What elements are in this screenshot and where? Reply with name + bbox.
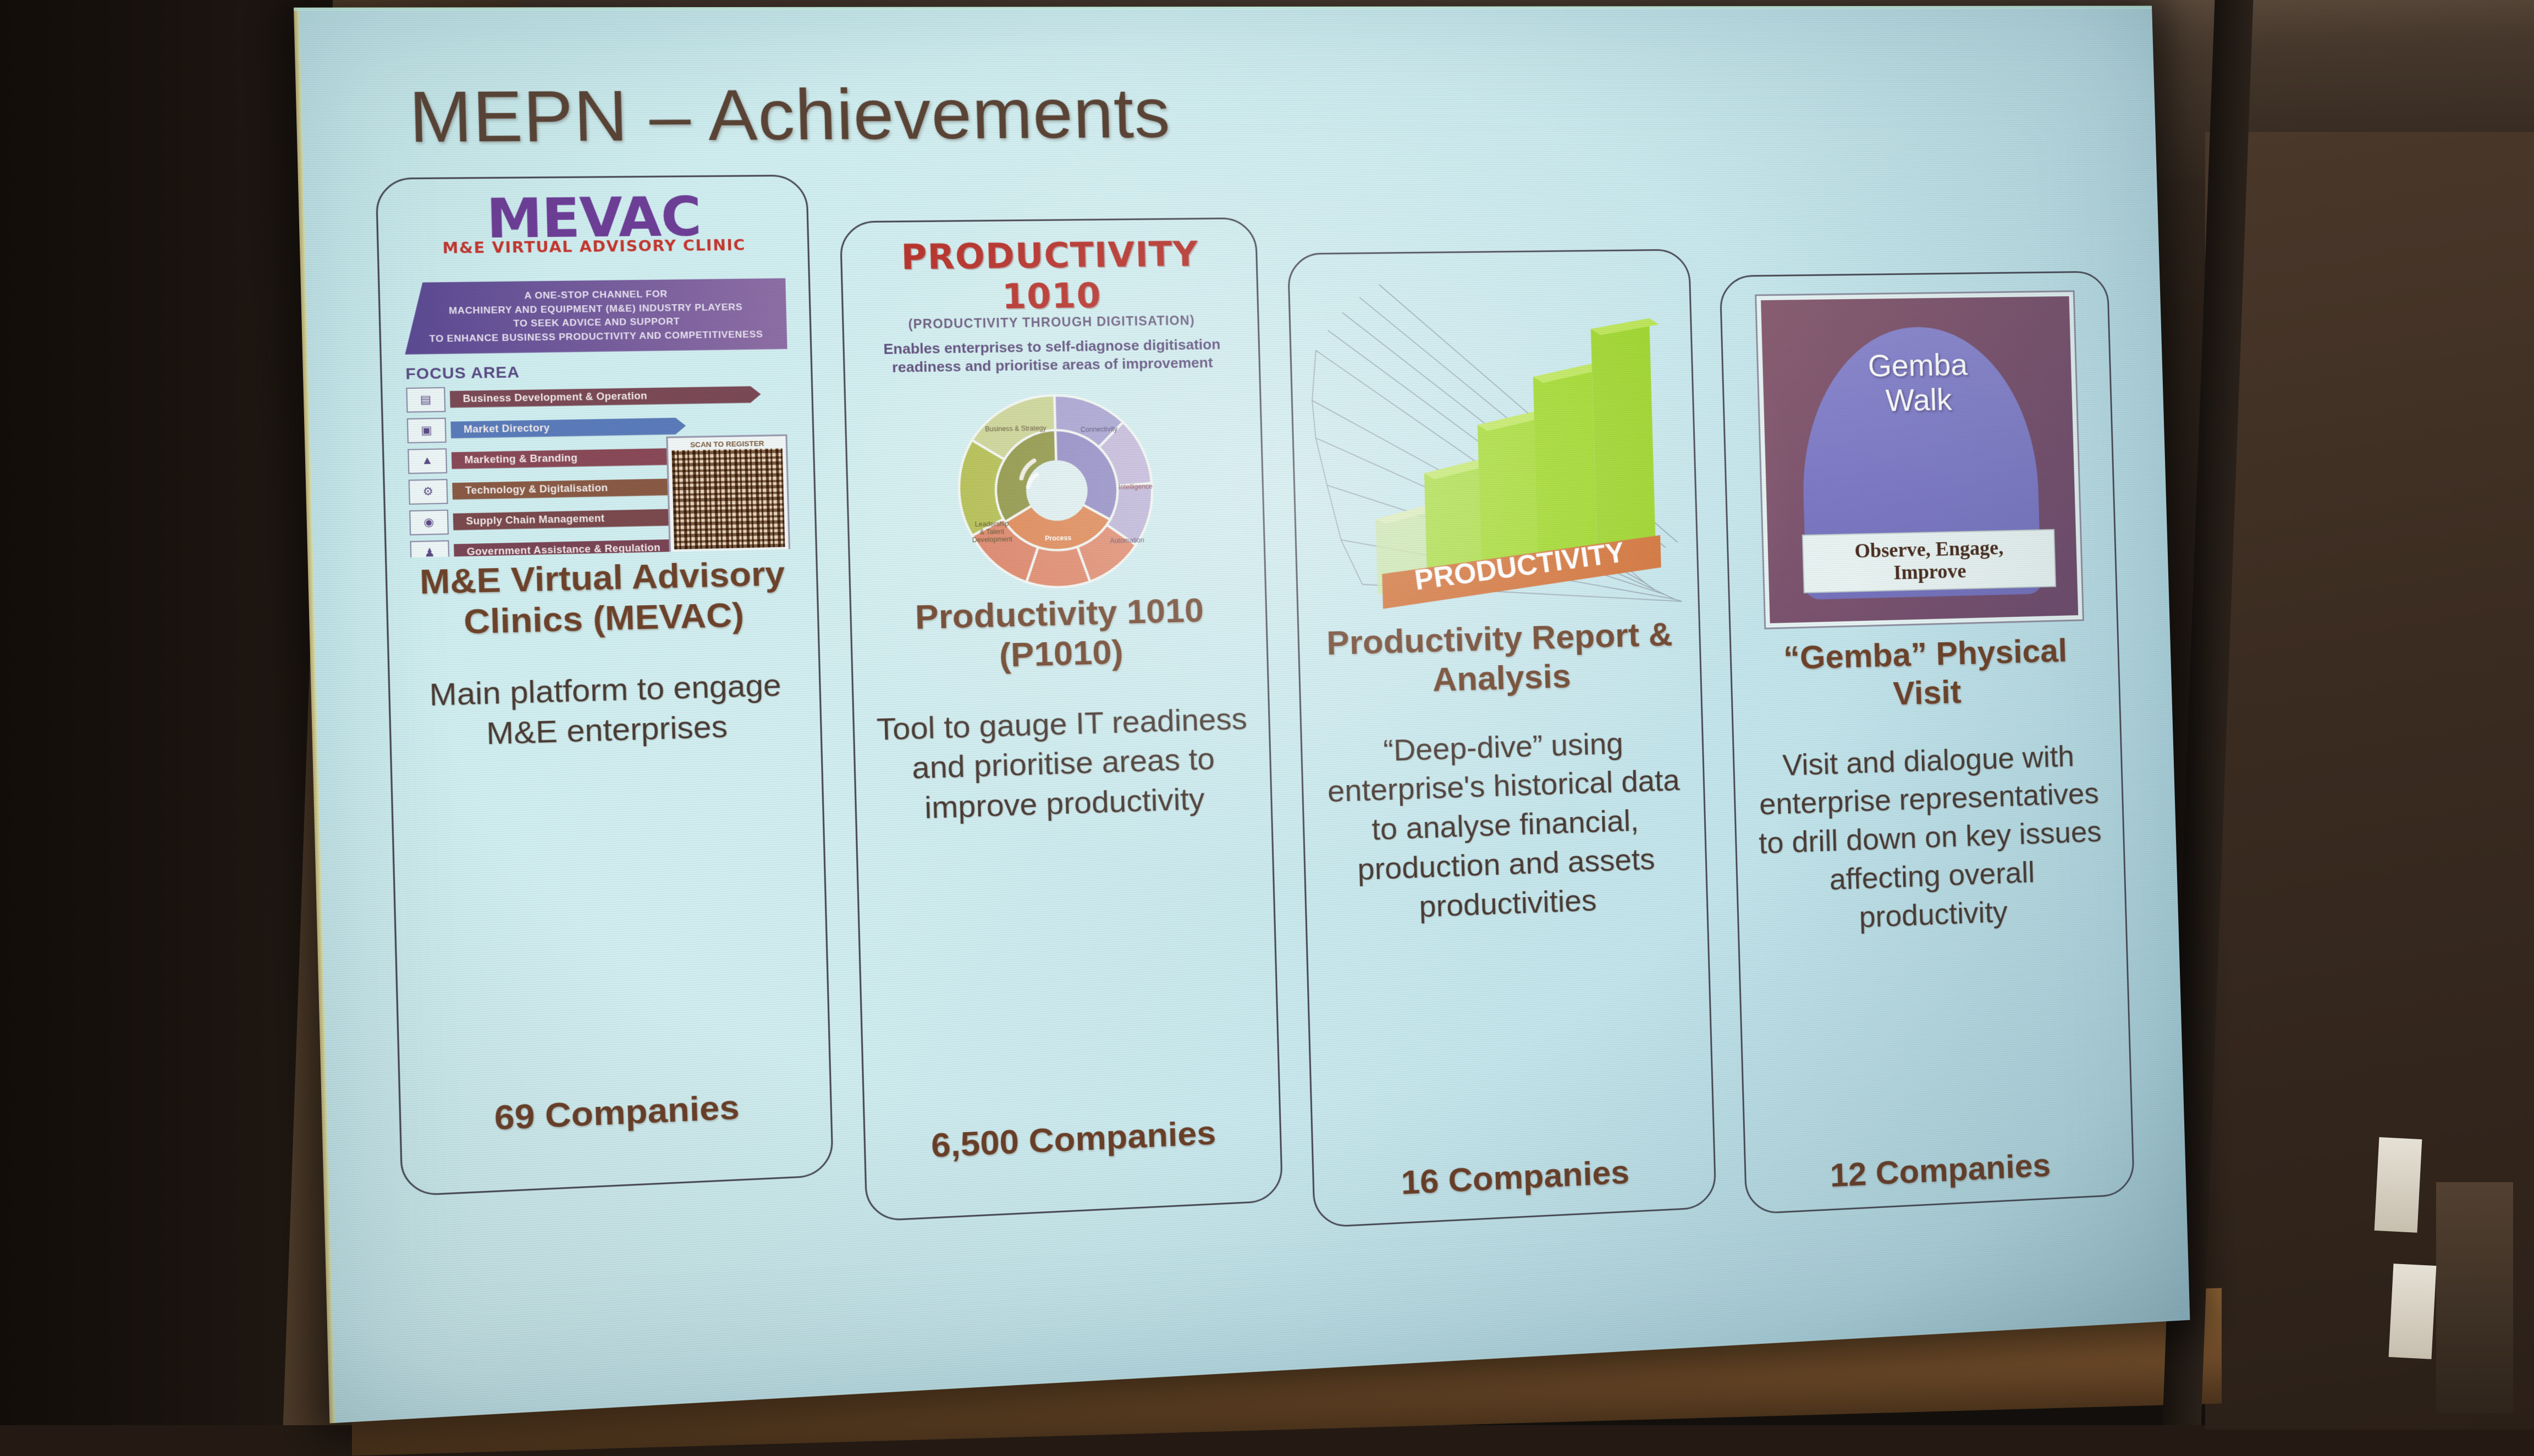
mevac-banner-line-4: TO ENHANCE BUSINESS PRODUCTIVITY AND COM… bbox=[420, 328, 772, 346]
donut-label-leadership: Leadership bbox=[975, 520, 1009, 529]
list-item: ⚙ Technology & Digitalisation bbox=[408, 472, 791, 505]
projection-stage: MEPN – Achievements MEVAC M&E VIRTUAL AD… bbox=[0, 0, 2534, 1425]
card-company-count: 12 Companies bbox=[1746, 1142, 2133, 1199]
p1010-donut-wrap: Business & Strategy Connectivity Intelli… bbox=[861, 379, 1251, 594]
donut-label-leadership2: & Talent bbox=[980, 528, 1005, 536]
chart-icon: ▤ bbox=[406, 387, 445, 413]
card-mevac-poster: MEVAC M&E VIRTUAL ADVISORY CLINIC A ONE-… bbox=[393, 191, 800, 558]
people-icon: ♟ bbox=[410, 540, 449, 558]
qr-caption: SCAN TO REGISTER bbox=[671, 439, 783, 449]
bar-chart-svg: PRODUCTIVITY bbox=[1303, 264, 1684, 620]
slide-surface: MEPN – Achievements MEVAC M&E VIRTUAL AD… bbox=[294, 5, 2190, 1423]
card-body: “Deep-dive” using enterprise's historica… bbox=[1316, 721, 1693, 929]
mevac-banner: A ONE-STOP CHANNEL FOR MACHINERY AND EQU… bbox=[403, 278, 787, 355]
card-body: Main platform to engage M&E enterprises bbox=[405, 664, 806, 757]
donut-svg: Business & Strategy Connectivity Intelli… bbox=[944, 381, 1169, 594]
card-productivity-chart: PRODUCTIVITY bbox=[1303, 264, 1684, 620]
list-item: ▣ Market Directory bbox=[406, 412, 790, 443]
card-p1010-poster: PRODUCTIVITY 1010 (PRODUCTIVITY THROUGH … bbox=[856, 233, 1250, 594]
list-item: ♟ Government Assistance & Regulation bbox=[410, 533, 793, 558]
focus-bar-label: Business Development & Operation bbox=[450, 386, 761, 408]
mevac-subtitle: M&E VIRTUAL ADVISORY CLINIC bbox=[402, 236, 785, 258]
gemba-poster: Gemba Walk Observe, Engage, Improve bbox=[1756, 292, 2083, 628]
qr-code[interactable]: SCAN TO REGISTER bbox=[666, 434, 791, 554]
card-heading: “Gemba” Physical Visit bbox=[1745, 631, 2106, 718]
mevac-banner-line-3: TO SEEK ADVICE AND SUPPORT bbox=[420, 314, 772, 333]
mevac-poster: MEVAC M&E VIRTUAL ADVISORY CLINIC A ONE-… bbox=[401, 191, 793, 558]
gemba-title-line2: Walk bbox=[1869, 383, 1969, 419]
donut-label-intelligence: Intelligence bbox=[1119, 482, 1153, 490]
gear-icon: ⚙ bbox=[408, 479, 448, 505]
mevac-focus-list: ▤ Business Development & Operation ▣ Mar… bbox=[406, 382, 793, 558]
gemba-title-line1: Gemba bbox=[1868, 348, 1968, 384]
achievement-card-list: MEVAC M&E VIRTUAL ADVISORY CLINIC A ONE-… bbox=[375, 165, 2136, 1333]
slide-edge-fringe-top bbox=[294, 5, 2152, 10]
page-title: MEPN – Achievements bbox=[408, 73, 1171, 159]
bar-5 bbox=[1590, 318, 1666, 569]
mevac-banner-line-2: MACHINERY AND EQUIPMENT (M&E) INDUSTRY P… bbox=[419, 300, 772, 318]
card-company-count: 16 Companies bbox=[1314, 1149, 1715, 1207]
gemba-title: Gemba Walk bbox=[1868, 348, 1969, 419]
mevac-banner-line-1: A ONE-STOP CHANNEL FOR bbox=[418, 286, 771, 305]
mevac-focus-label: FOCUS AREA bbox=[405, 359, 788, 383]
card-company-count: 6,500 Companies bbox=[865, 1110, 1280, 1168]
slide-edge-fringe-left bbox=[294, 8, 335, 1424]
list-item: ◉ Supply Chain Management bbox=[409, 503, 792, 536]
mevac-header: MEVAC M&E VIRTUAL ADVISORY CLINIC bbox=[401, 191, 785, 279]
p1010-subtitle: (PRODUCTIVITY THROUGH DIGITISATION) bbox=[858, 312, 1243, 333]
card-heading: M&E Virtual Advisory Clinics (MEVAC) bbox=[402, 553, 802, 644]
card-gemba[interactable]: Gemba Walk Observe, Engage, Improve “Gem… bbox=[1719, 271, 2135, 1215]
card-body: Tool to gauge IT readiness and prioritis… bbox=[869, 698, 1257, 830]
card-heading: Productivity 1010 (P1010) bbox=[866, 589, 1253, 679]
card-body: Visit and dialogue with enterprise repre… bbox=[1748, 736, 2112, 940]
donut-label-leadership3: Development bbox=[972, 535, 1013, 544]
donut-label-business: Business & Strategy bbox=[985, 424, 1046, 433]
p1010-donut-chart: Business & Strategy Connectivity Intelli… bbox=[944, 381, 1169, 594]
focus-bar-label: Supply Chain Management bbox=[453, 507, 749, 530]
p1010-description: Enables enterprises to self-diagnose dig… bbox=[859, 335, 1244, 377]
focus-bar-label: Marketing & Branding bbox=[451, 447, 710, 468]
productivity-bar-chart: PRODUCTIVITY bbox=[1303, 264, 1684, 620]
focus-bar-label: Government Assistance & Regulation bbox=[454, 537, 780, 558]
card-heading: Productivity Report & Analysis bbox=[1313, 615, 1687, 703]
trophy-icon: ▲ bbox=[407, 448, 447, 474]
card-mevac[interactable]: MEVAC M&E VIRTUAL ADVISORY CLINIC A ONE-… bbox=[375, 174, 834, 1196]
donut-label-process: Process bbox=[1045, 534, 1072, 542]
truck-icon: ◉ bbox=[409, 509, 449, 535]
projected-slide: MEPN – Achievements MEVAC M&E VIRTUAL AD… bbox=[294, 5, 2190, 1423]
card-productivity-report[interactable]: PRODUCTIVITY Productivity Report & Analy… bbox=[1287, 249, 1717, 1228]
list-item: ▤ Business Development & Operation bbox=[406, 382, 789, 412]
qr-code-pattern bbox=[672, 448, 785, 549]
id-card-icon: ▣ bbox=[406, 417, 446, 443]
card-p1010[interactable]: PRODUCTIVITY 1010 (PRODUCTIVITY THROUGH … bbox=[839, 217, 1283, 1222]
focus-bar-label: Market Directory bbox=[450, 417, 686, 438]
gemba-caption: Observe, Engage, Improve bbox=[1802, 529, 2056, 593]
p1010-title: PRODUCTIVITY 1010 bbox=[856, 233, 1243, 318]
donut-label-connectivity: Connectivity bbox=[1081, 425, 1117, 433]
p1010-poster: PRODUCTIVITY 1010 (PRODUCTIVITY THROUGH … bbox=[856, 233, 1250, 594]
focus-bar-label: Technology & Digitalisation bbox=[452, 477, 733, 500]
list-item: ▲ Marketing & Branding bbox=[407, 442, 791, 474]
donut-label-automation: Automation bbox=[1110, 537, 1144, 545]
card-gemba-poster: Gemba Walk Observe, Engage, Improve bbox=[1735, 286, 2103, 636]
card-company-count: 69 Companies bbox=[401, 1083, 831, 1142]
mevac-wordmark: MEVAC bbox=[401, 191, 785, 246]
